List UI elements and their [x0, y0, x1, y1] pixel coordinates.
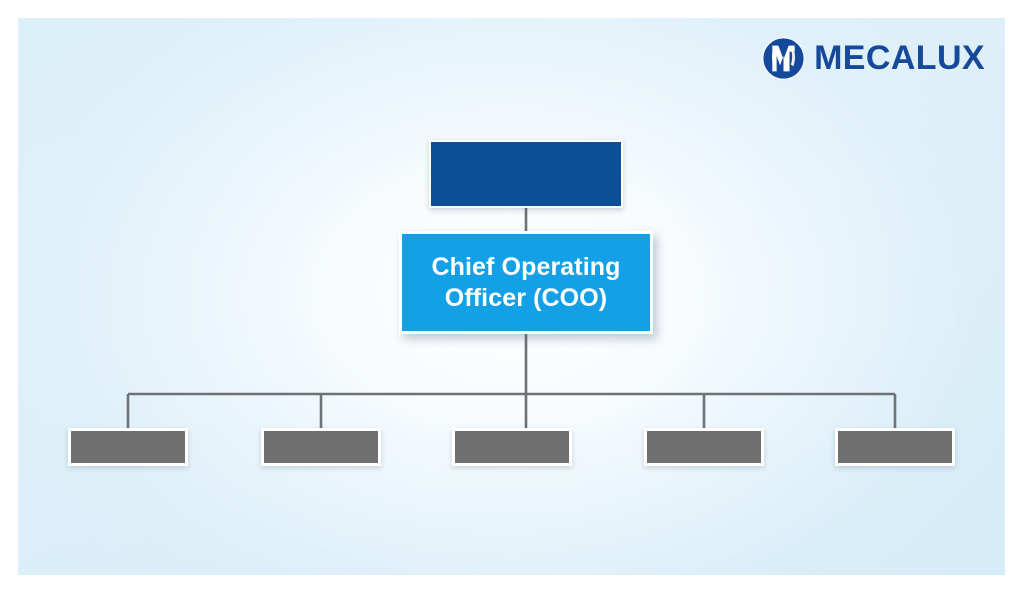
org-node-leaf-3[interactable] — [452, 428, 572, 466]
org-node-leaf-2[interactable] — [261, 428, 381, 466]
org-node-coo-label: Chief Operating Officer (COO) — [402, 252, 650, 314]
screenshot-root: Chief Operating Officer (COO) — [0, 0, 1024, 594]
mecalux-m-icon — [762, 37, 805, 80]
mecalux-logo: MECALUX — [762, 35, 985, 81]
org-node-leaf-5[interactable] — [835, 428, 955, 466]
org-node-coo[interactable]: Chief Operating Officer (COO) — [399, 231, 653, 334]
mecalux-wordmark: MECALUX — [814, 41, 985, 75]
org-node-leaf-1[interactable] — [68, 428, 188, 466]
org-node-top[interactable] — [429, 140, 623, 208]
org-node-leaf-4[interactable] — [644, 428, 764, 466]
diagram-canvas: Chief Operating Officer (COO) — [18, 18, 1005, 575]
